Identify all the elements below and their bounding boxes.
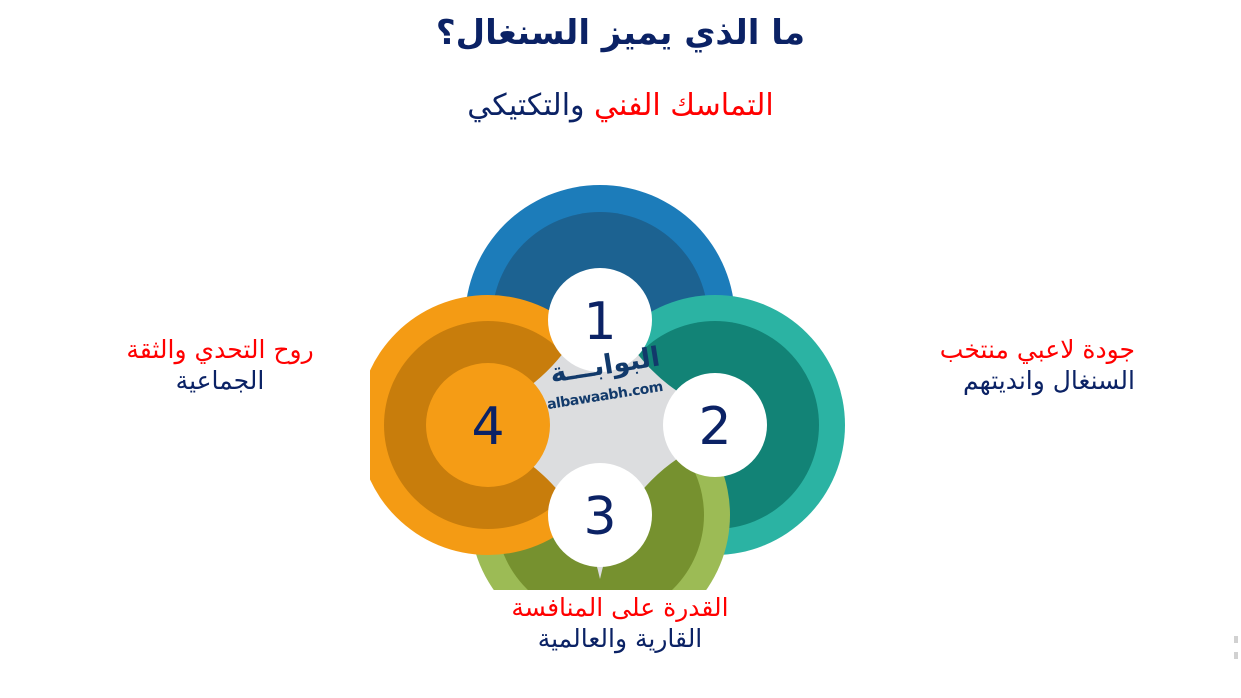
label-petal-3: القدرة على المنافسة القارية والعالمية	[400, 592, 840, 655]
petal-3-number-bubble[interactable]: 3	[548, 463, 652, 567]
edge-crop-mark	[1234, 636, 1240, 676]
infographic-canvas: ما الذي يميز السنغال؟ التماسك الفني والت…	[0, 0, 1241, 698]
petal-3-number: 3	[583, 487, 616, 547]
subtitle-rest: والتكتيكي	[467, 88, 594, 123]
label-petal-4-rest: الجماعية	[70, 365, 370, 396]
page-title: ما الذي يميز السنغال؟	[0, 12, 1241, 55]
petal-2-number-bubble[interactable]: 2	[663, 373, 767, 477]
subtitle-highlight: التماسك الفني	[594, 88, 774, 123]
petal-4-number: 4	[471, 397, 504, 457]
label-petal-3-highlight: القدرة على المنافسة	[400, 592, 840, 623]
label-petal-2-highlight: جودة لاعبي منتخب	[845, 334, 1135, 365]
page-subtitle: التماسك الفني والتكتيكي	[0, 86, 1241, 125]
label-petal-3-rest: القارية والعالمية	[400, 623, 840, 654]
petal-2-number: 2	[698, 397, 731, 457]
petal-1-number-bubble[interactable]: 1	[548, 268, 652, 372]
label-petal-2: جودة لاعبي منتخب السنغال وانديتهم	[845, 334, 1135, 397]
petal-diagram: 1 2 3 4 البوابـــة albawaabh.com	[370, 150, 870, 590]
label-petal-4: روح التحدي والثقة الجماعية	[70, 334, 370, 397]
petal-1-number: 1	[583, 292, 616, 352]
label-petal-4-highlight: روح التحدي والثقة	[70, 334, 370, 365]
label-petal-2-rest: السنغال وانديتهم	[845, 365, 1135, 396]
petal-4-number-bubble[interactable]: 4	[426, 363, 550, 487]
